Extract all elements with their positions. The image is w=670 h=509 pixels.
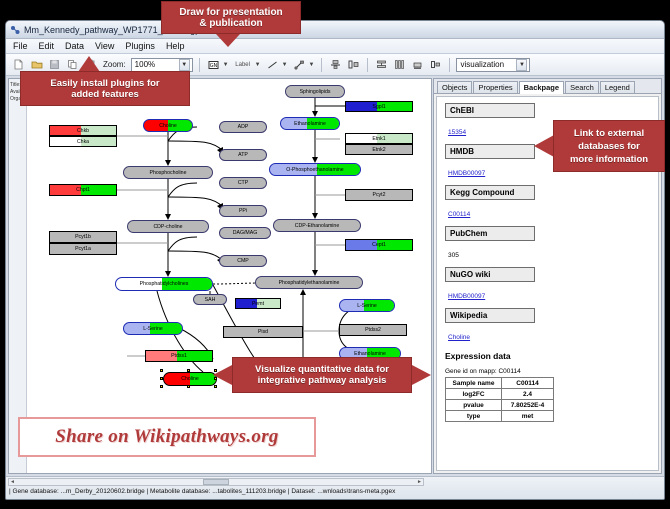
title-bar: Mm_Kennedy_pathway_WP1771_45176.gpml [6, 21, 664, 39]
wikipedia-link[interactable]: Choline [448, 334, 470, 341]
table-row: pvalue 7.80252E-4 [446, 400, 554, 411]
gene-node-ptdss1[interactable]: Ptdss1 [145, 350, 213, 362]
callout-draw-arrow [216, 34, 240, 47]
metabolite-node-sah[interactable]: SAH [193, 294, 227, 305]
toolbar-separator-2 [321, 58, 322, 72]
gene-node-chpt1[interactable]: Chpt1 [49, 184, 117, 196]
visualization-value: visualization [460, 60, 504, 69]
gene-node-pcyt1a[interactable]: Pcyt1a [49, 243, 117, 255]
menu-item-data[interactable]: Data [64, 41, 85, 51]
section-heading-hmdb: HMDB [445, 144, 535, 159]
tab-backpage[interactable]: Backpage [519, 81, 564, 95]
metabolite-node-adp[interactable]: ADP [219, 121, 267, 133]
order-icon[interactable] [410, 57, 425, 72]
menu-item-help[interactable]: Help [165, 41, 186, 51]
visualization-combo[interactable]: visualization ▼ [456, 58, 530, 72]
metabolite-node-phosphatidylethanolamine[interactable]: Phosphatidylethanolamine [255, 276, 363, 289]
metabolite-node-l-serine-left[interactable]: L-Serine [123, 322, 183, 335]
cell-key: type [446, 411, 502, 422]
toolbar-separator [199, 58, 200, 72]
callout-draw-line2: & publication [199, 18, 262, 29]
section-heading-pubchem: PubChem [445, 226, 535, 241]
section-heading-wikipedia: Wikipedia [445, 308, 535, 323]
status-bar: ◄ ► | Gene database: ...m_Derby_20120602… [6, 476, 664, 499]
pathvisio-icon [10, 25, 20, 35]
status-text: | Gene database: ...m_Derby_20120602.bri… [9, 488, 395, 495]
metabolite-node-atp[interactable]: ATP [219, 149, 267, 161]
gene-node-cept1[interactable]: Cept1 [345, 239, 413, 251]
cell-value: met [502, 411, 554, 422]
metabolite-node-dag-mag[interactable]: DAG/MAG [219, 227, 271, 239]
anchor-dropdown-icon[interactable]: ▼ [309, 62, 315, 68]
callout-plugins-line1: Easily install plugins for [50, 78, 159, 89]
toolbar-separator-3 [367, 58, 368, 72]
menu-item-file[interactable]: File [12, 41, 29, 51]
section-heading-kegg: Kegg Compound [445, 185, 535, 200]
callout-share: Share on Wikipathways.org [18, 417, 316, 457]
cell-value: 7.80252E-4 [502, 400, 554, 411]
gene-node-etnk2[interactable]: Etnk2 [345, 144, 413, 155]
distribute-icon[interactable] [392, 57, 407, 72]
metabolite-node-choline-selected[interactable]: Choline [163, 372, 217, 386]
horizontal-scrollbar[interactable]: ◄ ► [8, 478, 424, 486]
callout-plugins: Easily install plugins for added feature… [20, 71, 190, 106]
visualization-chevron-down-icon[interactable]: ▼ [516, 59, 527, 71]
metabolite-node-ethanolamine[interactable]: Ethanolamine [280, 117, 340, 130]
metabolite-node-ppi[interactable]: PPi [219, 205, 267, 217]
callout-links-line1: Link to external [574, 127, 644, 140]
scrollbar-thumb[interactable] [203, 479, 229, 485]
chevron-down-icon[interactable]: ▼ [179, 59, 190, 71]
callout-plugins-arrow [78, 56, 100, 72]
chebi-link[interactable]: 15354 [448, 129, 466, 136]
zoom-label: Zoom: [103, 60, 126, 69]
side-panel-tabs: Objects Properties Backpage Search Legen… [434, 79, 661, 94]
group-icon[interactable] [346, 57, 361, 72]
gene-node-etnk1[interactable]: Etnk1 [345, 133, 413, 144]
menu-bar: File Edit Data View Plugins Help [6, 39, 664, 54]
table-row: Sample name C00114 [446, 378, 554, 389]
new-file-icon[interactable] [11, 57, 26, 72]
gene-node-pcyt1b[interactable]: Pcyt1b [49, 231, 117, 243]
tab-search[interactable]: Search [565, 81, 599, 94]
callout-links-arrow [534, 135, 554, 157]
gene-node-chkb[interactable]: Chkb [49, 125, 117, 136]
table-row: type met [446, 411, 554, 422]
gene-node-ptdss2[interactable]: Ptdss2 [339, 324, 407, 336]
metabolite-node-o-phosphoethanolamine[interactable]: O-Phosphoethanolamine [269, 163, 361, 176]
metabolite-node-cdp-ethanolamine[interactable]: CDP-Ethanolamine [273, 219, 361, 232]
menu-item-edit[interactable]: Edit [38, 41, 56, 51]
gene-id-line: Gene id on mapp: C00114 [445, 368, 658, 375]
kegg-link[interactable]: C00114 [448, 211, 470, 218]
datanode-icon[interactable]: GN [206, 57, 221, 72]
callout-visualize-line2: integrative pathway analysis [258, 375, 387, 386]
label-icon[interactable]: Label [233, 57, 253, 72]
metabolite-node-ctp[interactable]: CTP [219, 177, 267, 189]
tab-objects[interactable]: Objects [437, 81, 472, 94]
pathway-info-strip: Title: Availa Organi [9, 79, 27, 473]
cell-key: pvalue [446, 400, 502, 411]
tab-properties[interactable]: Properties [473, 81, 517, 94]
zoom-value: 100% [135, 60, 155, 69]
zoom-combo[interactable]: 100% ▼ [131, 58, 193, 72]
gene-node-pcyt2[interactable]: Pcyt2 [345, 189, 413, 201]
table-row: log2FC 2.4 [446, 389, 554, 400]
anchor-icon[interactable] [292, 57, 307, 72]
callout-external-links: Link to external databases for more info… [553, 120, 665, 172]
expression-data-title: Expression data [445, 351, 658, 361]
cell-key: log2FC [446, 389, 502, 400]
metabolite-node-choline-top[interactable]: Choline [143, 119, 193, 132]
line-icon[interactable] [265, 57, 280, 72]
section-heading-nugo: NuGO wiki [445, 267, 535, 282]
save-icon[interactable] [47, 57, 62, 72]
toolbar-separator-4 [449, 58, 450, 72]
callout-links-line3: more information [570, 153, 648, 166]
open-folder-icon[interactable] [29, 57, 44, 72]
metabolite-node-cmp[interactable]: CMP [219, 255, 267, 267]
line-dropdown-icon[interactable]: ▼ [282, 62, 288, 68]
scroll-left-icon[interactable]: ◄ [9, 479, 16, 485]
stack-icon[interactable] [374, 57, 389, 72]
label-dropdown-icon[interactable]: ▼ [255, 62, 261, 68]
callout-visualize-arrow-left [213, 365, 232, 385]
zorder-icon[interactable] [428, 57, 443, 72]
callout-visualize: Visualize quantitative data for integrat… [232, 357, 412, 393]
menu-item-plugins[interactable]: Plugins [124, 41, 156, 51]
callout-visualize-arrow-right [412, 365, 431, 385]
metabolite-node-sphingolipids[interactable]: Sphingolipids [285, 85, 345, 98]
gene-node-sgpl1[interactable]: Sgpl1 [345, 101, 413, 112]
svg-text:GN: GN [209, 63, 217, 69]
cell-key: Sample name [446, 378, 502, 389]
tab-legend[interactable]: Legend [600, 81, 635, 94]
metabolite-node-cdp-choline[interactable]: CDP-choline [127, 220, 209, 233]
metabolite-node-l-serine-right[interactable]: L-Serine [339, 299, 395, 312]
nugo-link[interactable]: HMDB00097 [448, 293, 485, 300]
gene-node-chka[interactable]: Chka [49, 136, 117, 147]
pathway-canvas[interactable]: Title: Availa Organi [8, 78, 432, 474]
cell-value: C00114 [502, 378, 554, 389]
callout-visualize-line1: Visualize quantitative data for [255, 364, 389, 375]
callout-draw: Draw for presentation & publication [161, 1, 301, 34]
callout-share-text: Share on Wikipathways.org [55, 426, 278, 448]
section-heading-chebi: ChEBI [445, 103, 535, 118]
gene-node-pemt[interactable]: Pemt [235, 298, 281, 309]
align-icon[interactable] [328, 57, 343, 72]
metabolite-node-phosphatidylcholines[interactable]: Phosphatidylcholines [115, 277, 213, 291]
cell-value: 2.4 [502, 389, 554, 400]
callout-links-line2: databases for [578, 140, 640, 153]
datanode-dropdown-icon[interactable]: ▼ [223, 62, 229, 68]
callout-draw-line1: Draw for presentation [179, 7, 282, 18]
scroll-right-icon[interactable]: ► [416, 479, 423, 485]
pathway-diagram[interactable]: Sphingolipids Choline Ethanolamine ADP A… [27, 79, 431, 473]
menu-item-view[interactable]: View [94, 41, 115, 51]
pubchem-value: 305 [448, 252, 459, 259]
gene-node-pisd[interactable]: Pisd [223, 326, 303, 338]
hmdb-link[interactable]: HMDB00097 [448, 170, 485, 177]
metabolite-node-phosphocholine[interactable]: Phosphocholine [123, 166, 213, 179]
expression-data-table: Sample name C00114 log2FC 2.4 pvalue 7.8… [445, 377, 554, 422]
callout-plugins-line2: added features [71, 89, 139, 100]
